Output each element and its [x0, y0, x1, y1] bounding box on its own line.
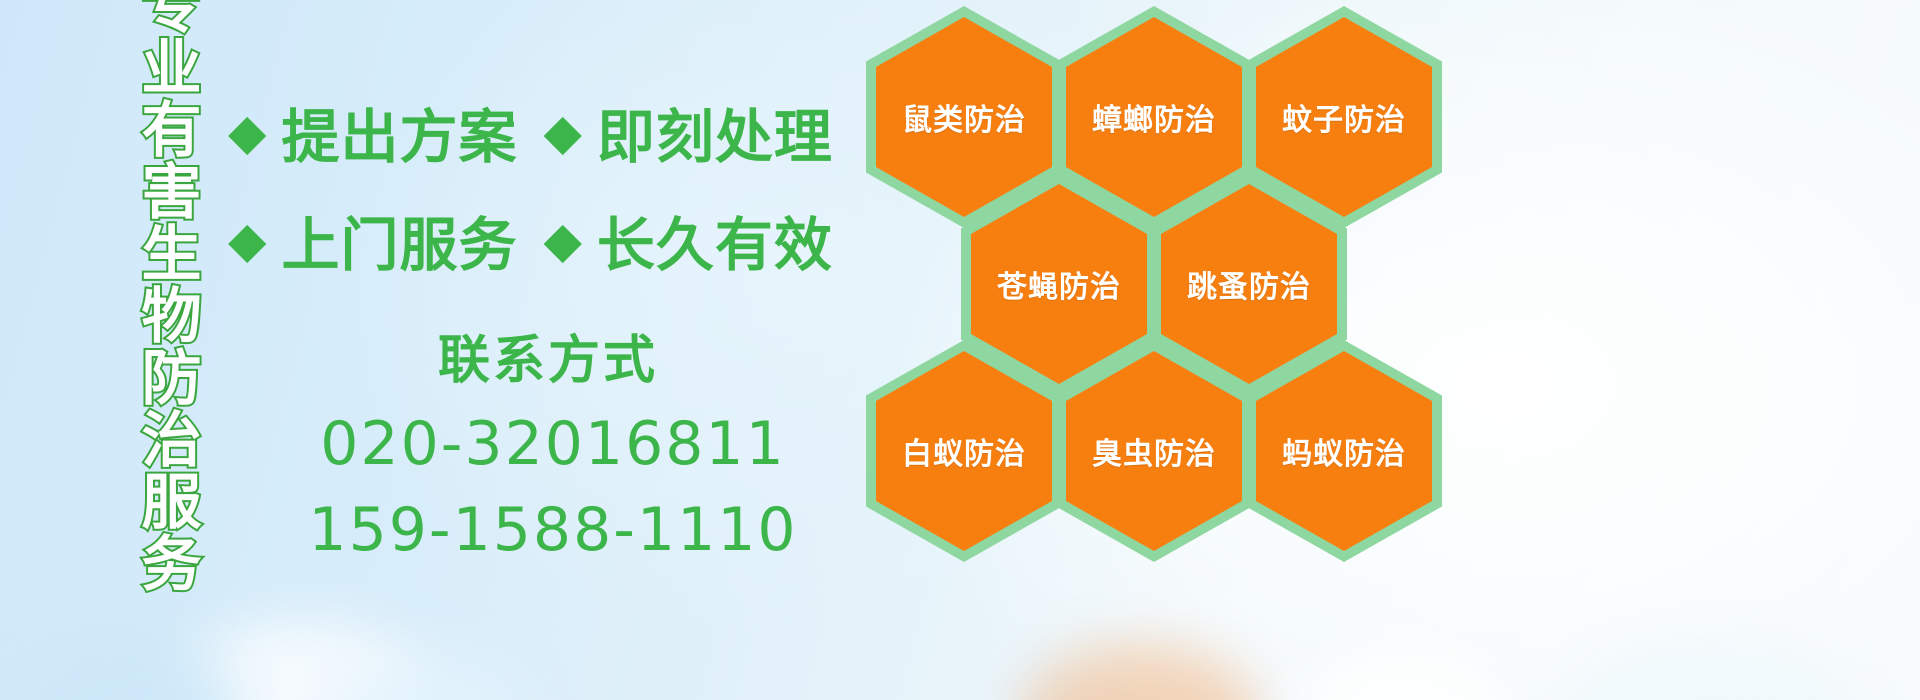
- hex-label: 蚂蚁防治: [1282, 429, 1406, 473]
- hex-inner: 蚂蚁防治: [1256, 351, 1432, 551]
- background-bokeh-blob: [1290, 650, 1510, 700]
- contact-block: 联系方式 020-32016811 159-1588-1110: [228, 318, 878, 565]
- hex-label: 臭虫防治: [1092, 429, 1216, 473]
- background-bokeh-blob: [170, 620, 430, 700]
- phone-number-mobile[interactable]: 159-1588-1110: [228, 495, 878, 565]
- hex-inner: 臭虫防治: [1066, 351, 1242, 551]
- hex-label: 跳蚤防治: [1187, 262, 1311, 306]
- hex-label: 白蚁防治: [902, 429, 1026, 473]
- phone-number-landline[interactable]: 020-32016811: [228, 409, 878, 479]
- diamond-bullet-icon: ◆: [543, 215, 582, 265]
- feature-list: ◆ 提出方案 ◆ 即刻处理 ◆ 上门服务 ◆ 长久有效: [228, 78, 868, 294]
- feature-label: 长久有效: [597, 198, 833, 282]
- diamond-bullet-icon: ◆: [543, 107, 582, 157]
- hex-inner: 跳蚤防治: [1161, 184, 1337, 384]
- vertical-headline: 专业有害生物防治服务: [108, 14, 196, 554]
- feature-label: 提出方案: [281, 90, 517, 174]
- diamond-bullet-icon: ◆: [228, 107, 267, 157]
- feature-row: ◆ 提出方案 ◆ 即刻处理: [228, 78, 868, 186]
- feature-label: 即刻处理: [597, 90, 833, 174]
- hex-label: 蚊子防治: [1282, 95, 1406, 139]
- background-bokeh-blob: [1560, 640, 1860, 700]
- hex-inner: 苍蝇防治: [971, 184, 1147, 384]
- hex-label: 苍蝇防治: [997, 262, 1121, 306]
- feature-label: 上门服务: [281, 198, 517, 282]
- hex-inner: 白蚁防治: [876, 351, 1052, 551]
- background-bokeh-blob: [20, 630, 240, 700]
- pest-control-banner: 专业有害生物防治服务 ◆ 提出方案 ◆ 即刻处理 ◆ 上门服务 ◆ 长久有效 联…: [0, 0, 1920, 700]
- background-bokeh-blob: [330, 650, 530, 700]
- hex-inner: 鼠类防治: [876, 17, 1052, 217]
- feature-row: ◆ 上门服务 ◆ 长久有效: [228, 186, 868, 294]
- contact-title: 联系方式: [218, 318, 878, 393]
- diamond-bullet-icon: ◆: [228, 215, 267, 265]
- background-bokeh-blob: [1020, 645, 1260, 700]
- hex-label: 鼠类防治: [902, 95, 1026, 139]
- hex-inner: 蟑螂防治: [1066, 17, 1242, 217]
- hex-label: 蟑螂防治: [1092, 95, 1216, 139]
- service-honeycomb: 鼠类防治 蟑螂防治 蚊子防治 苍蝇防治 跳蚤防治 白蚁防治: [862, 0, 1482, 560]
- hex-inner: 蚊子防治: [1256, 17, 1432, 217]
